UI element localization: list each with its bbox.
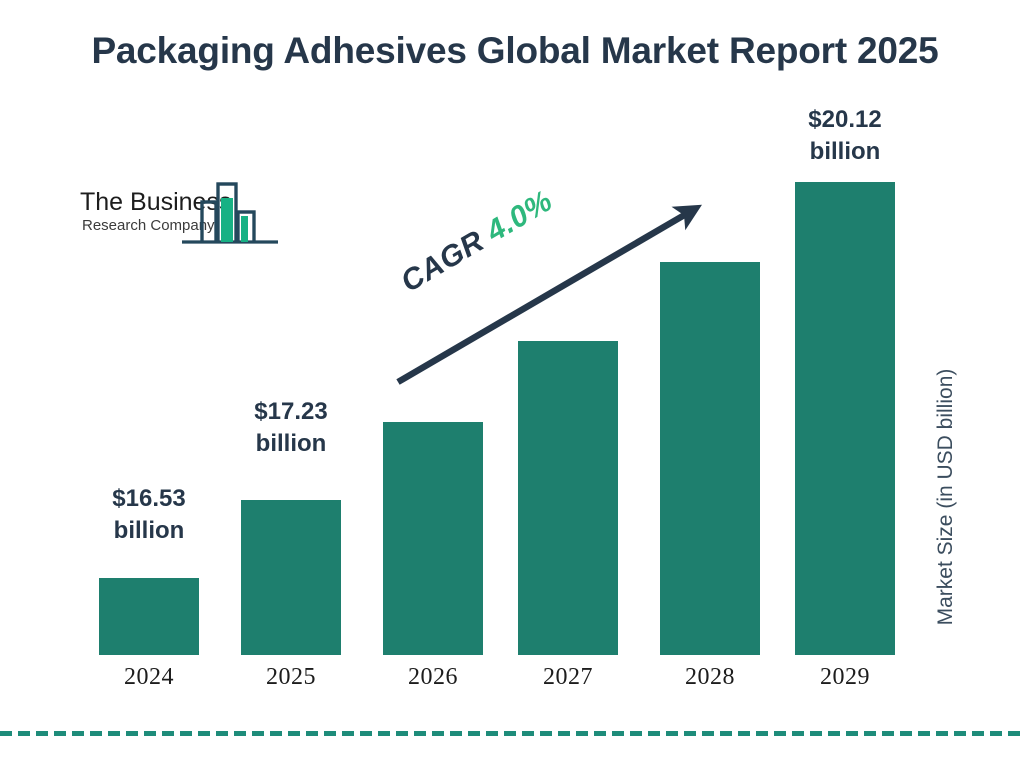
value-unit-2025: billion [226,428,356,460]
x-axis-label-2029: 2029 [795,664,895,691]
value-amount-2024: $16.53 [112,485,185,512]
x-axis-label-2026: 2026 [383,664,483,691]
y-axis-title: Market Size (in USD billion) [934,332,958,662]
bar-2029 [795,182,895,655]
bar-2026 [383,422,483,655]
footer-divider [0,731,1024,736]
x-axis-label-2024: 2024 [99,664,199,691]
bar-2024 [99,578,199,655]
bar-2028 [660,262,760,655]
x-axis-label-2028: 2028 [660,664,760,691]
x-axis-label-2027: 2027 [518,664,618,691]
bar-2027 [518,341,618,655]
value-amount-2029: $20.12 [808,106,881,133]
value-label-2024: $16.53 billion [84,483,214,546]
x-axis-label-2025: 2025 [241,664,341,691]
value-label-2025: $17.23 billion [226,396,356,459]
value-label-2029: $20.12 billion [780,104,910,167]
value-unit-2029: billion [780,136,910,168]
value-unit-2024: billion [84,515,214,547]
chart-canvas: Packaging Adhesives Global Market Report… [0,0,1024,768]
value-amount-2025: $17.23 [254,398,327,425]
bar-2025 [241,500,341,655]
